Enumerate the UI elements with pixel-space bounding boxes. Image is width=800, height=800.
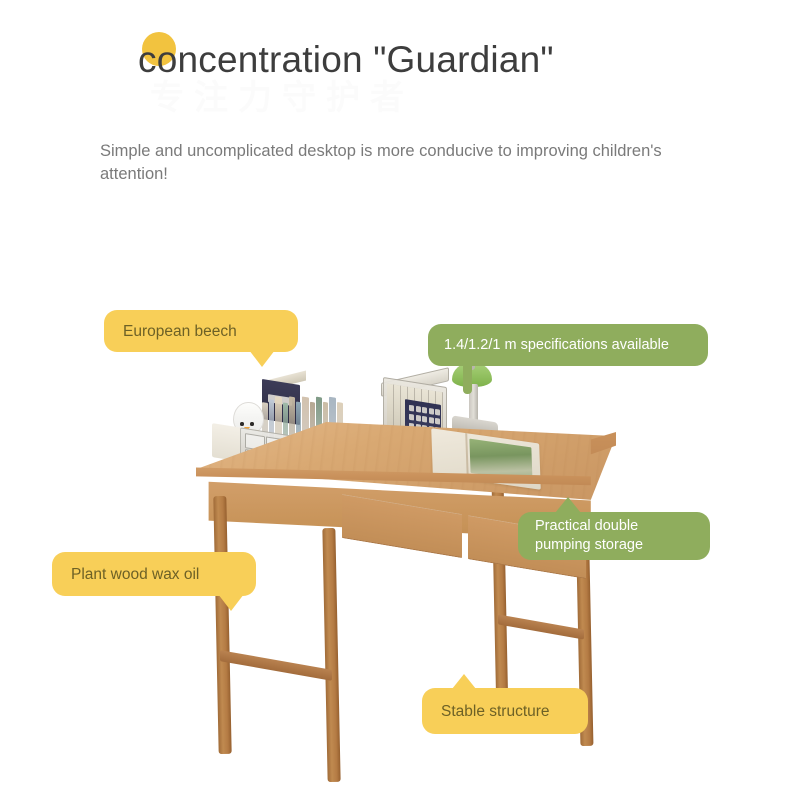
document-glyph: [435, 409, 440, 416]
callout-tail-european-beech: [249, 350, 275, 367]
callout-label: Practical double pumping storage: [535, 517, 643, 555]
desk-leg-front-left: [213, 496, 231, 754]
callout-european-beech[interactable]: European beech: [104, 310, 298, 352]
callout-stem-specifications: [463, 364, 472, 394]
document-glyph: [416, 415, 421, 422]
callout-stable-structure[interactable]: Stable structure: [422, 688, 588, 734]
callout-label: Plant wood wax oil: [71, 565, 199, 584]
document-glyph: [435, 418, 440, 425]
callout-specifications[interactable]: 1.4/1.2/1 m specifications available: [428, 324, 708, 366]
document-glyph: [409, 405, 414, 412]
product-feature-image: 专注力守护者 concentration "Guardian" Simple a…: [0, 0, 800, 800]
page-title: concentration "Guardian": [138, 34, 554, 86]
callout-tail-wax-oil: [218, 594, 244, 611]
callout-practical-storage[interactable]: Practical double pumping storage: [518, 512, 710, 560]
page-title-text: concentration "Guardian": [138, 39, 554, 80]
document-glyph: [416, 406, 421, 413]
document-glyph: [422, 407, 427, 414]
chick-figurine-eye-right: [250, 422, 254, 426]
desk-stretcher-back: [498, 614, 584, 639]
callout-tail-storage: [555, 497, 581, 513]
document-glyph: [429, 417, 434, 424]
callout-plant-wood-wax-oil[interactable]: Plant wood wax oil: [52, 552, 256, 596]
callout-label: Stable structure: [441, 702, 550, 721]
callout-tail-stable-structure: [452, 674, 476, 689]
open-book-fold: [465, 433, 468, 479]
page-subtitle: Simple and uncomplicated desktop is more…: [100, 140, 700, 186]
document-glyph: [422, 416, 427, 423]
desk-stretcher-front: [220, 650, 332, 681]
callout-label: European beech: [123, 322, 237, 341]
callout-label: 1.4/1.2/1 m specifications available: [444, 336, 669, 355]
desk-leg-front-right: [322, 528, 340, 782]
chick-figurine-eye-left: [240, 422, 244, 426]
document-glyph: [429, 408, 434, 415]
document-glyph: [409, 414, 414, 421]
